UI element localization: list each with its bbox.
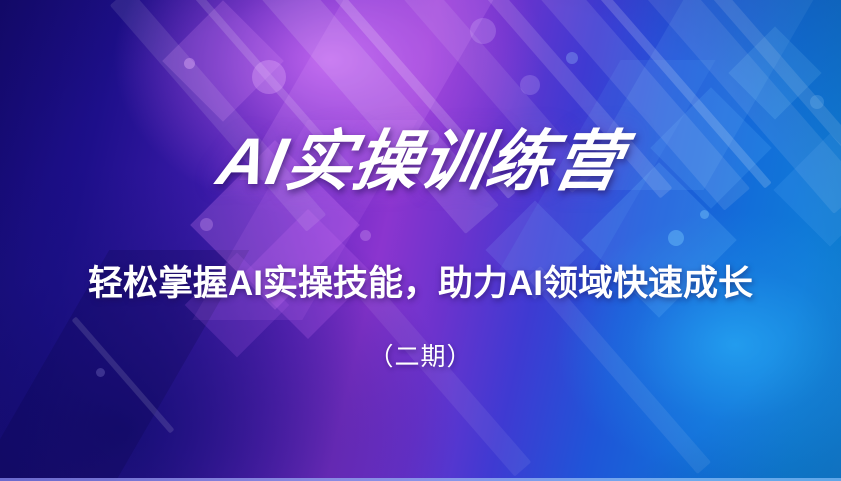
banner-edition-label: （二期） [0, 340, 841, 374]
banner-subtitle: 轻松掌握AI实操技能，助力AI领域快速成长 [0, 262, 841, 306]
promo-banner: AI实操训练营 轻松掌握AI实操技能，助力AI领域快速成长 （二期） [0, 0, 841, 481]
banner-title: AI实操训练营 [0, 122, 841, 200]
banner-content: AI实操训练营 轻松掌握AI实操技能，助力AI领域快速成长 （二期） [0, 0, 841, 481]
